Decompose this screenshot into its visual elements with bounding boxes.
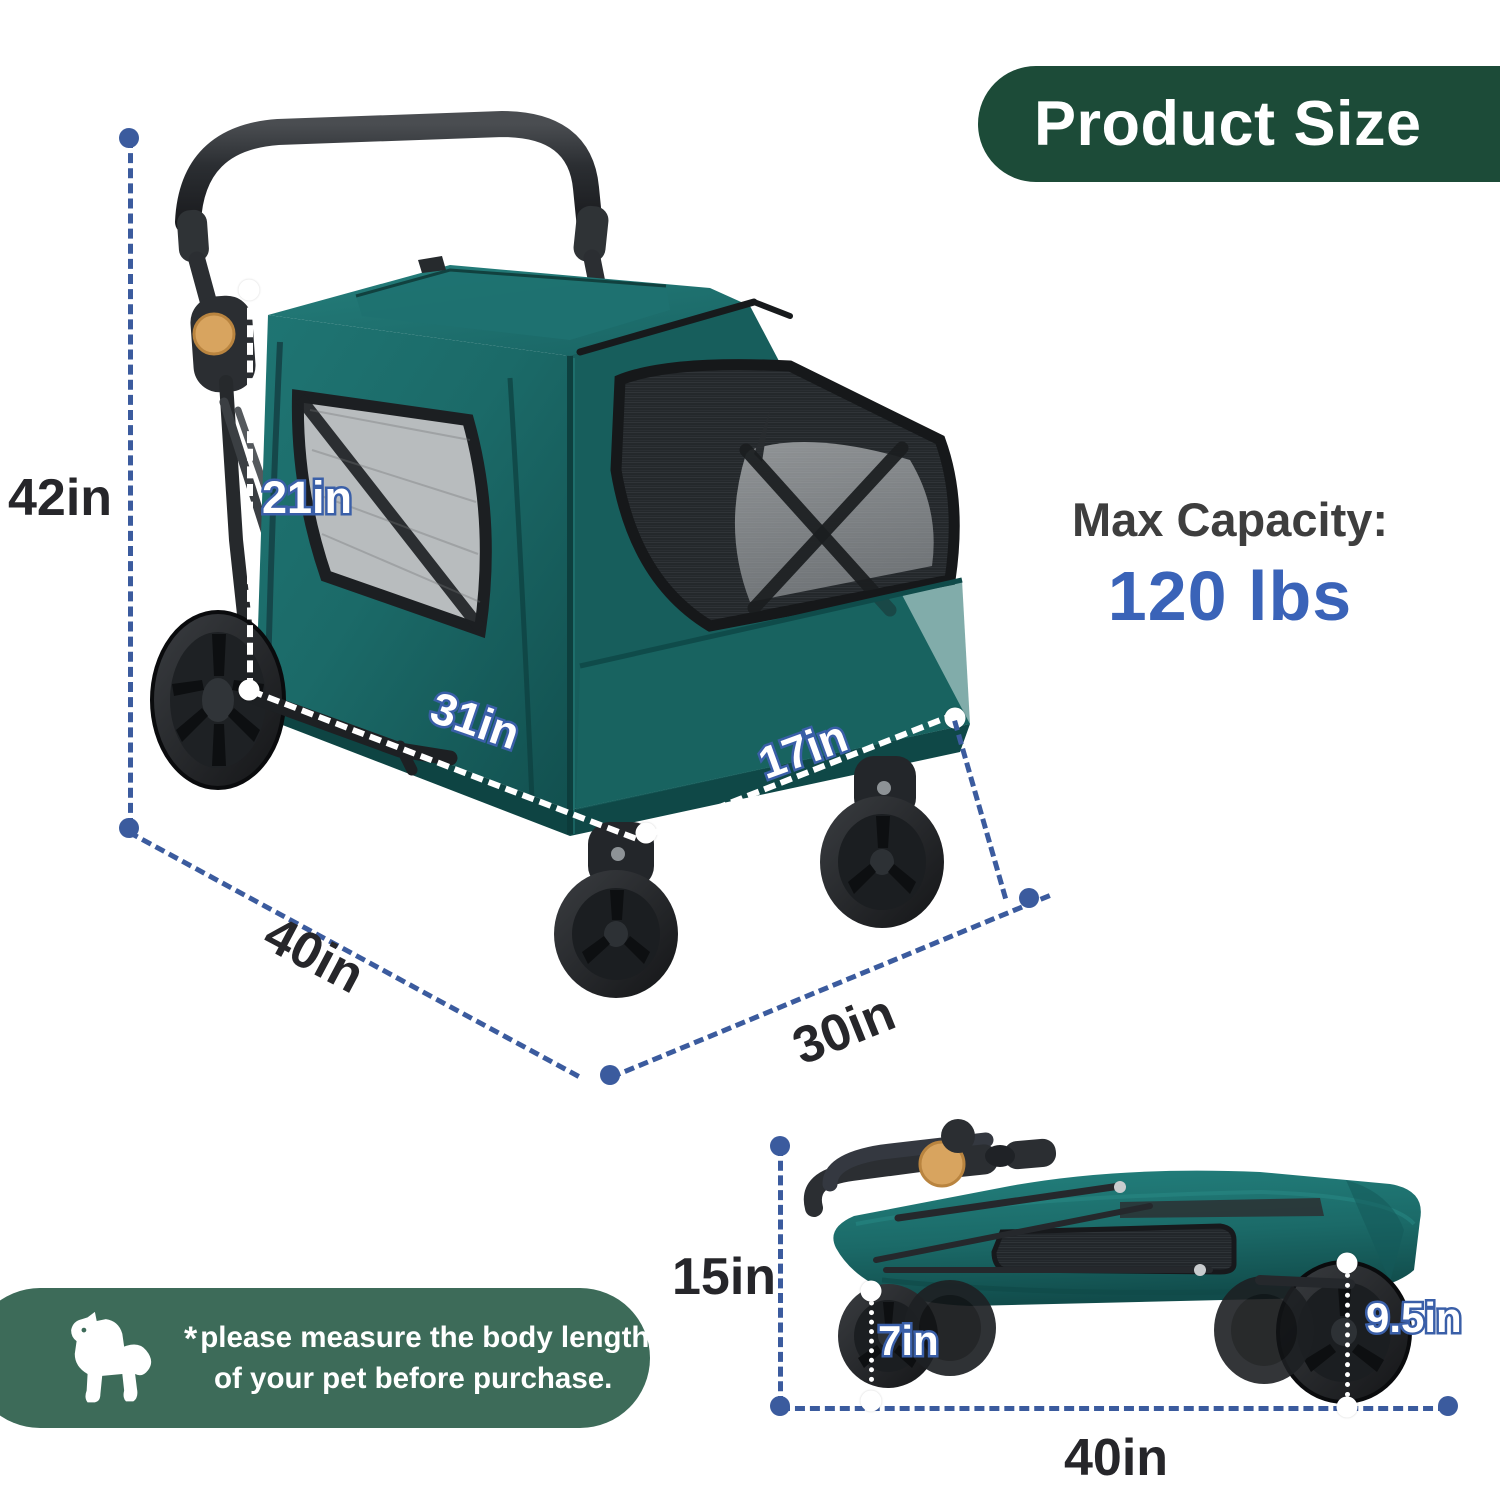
note-asterisk: * (184, 1320, 197, 1358)
guide-rear-wheel-95 (1345, 1263, 1350, 1407)
guide-dot (1438, 1396, 1458, 1416)
measure-pet-note-banner: *please measure the body length of your … (0, 1288, 650, 1428)
dog-silhouette-icon (60, 1310, 170, 1406)
guide-height-21 (247, 290, 253, 690)
infographic-canvas: Product Size Max Capacity: 120 lbs (0, 0, 1500, 1500)
guide-dot (1337, 1397, 1358, 1418)
guide-dot (239, 280, 260, 301)
stroller-folded-illustration (790, 1120, 1470, 1420)
max-capacity-value: 120 lbs (1030, 556, 1430, 637)
guide-dot (1019, 888, 1039, 908)
label-height-42: 42in (8, 468, 112, 528)
guide-dot (861, 1391, 882, 1412)
max-capacity-label: Max Capacity: (1030, 494, 1430, 546)
label-folded-height-15: 15in (672, 1247, 776, 1307)
guide-folded-height-15 (778, 1146, 783, 1406)
guide-dot (1337, 1253, 1358, 1274)
guide-dot (770, 1136, 790, 1156)
guide-dot (600, 1065, 620, 1085)
guide-front-wheel-7 (869, 1291, 874, 1401)
label-front-wheel-7: 7in (878, 1317, 939, 1365)
guide-height-42 (128, 138, 133, 828)
guide-dot (119, 128, 139, 148)
label-folded-length-40: 40in (1064, 1428, 1168, 1488)
page-title: Product Size (1034, 88, 1422, 160)
note-line-1: please measure the body length (200, 1321, 649, 1354)
label-interior-height-21: 21in (262, 472, 352, 524)
label-rear-wheel-95: 9.5in (1366, 1294, 1462, 1342)
guide-dot (861, 1281, 882, 1302)
note-line-2: of your pet before purchase. (214, 1362, 612, 1395)
max-capacity-block: Max Capacity: 120 lbs (1030, 494, 1430, 636)
stroller-expanded-illustration (150, 110, 980, 1010)
product-size-banner: Product Size (978, 66, 1500, 182)
measure-pet-note-text: *please measure the body length of your … (184, 1318, 649, 1397)
